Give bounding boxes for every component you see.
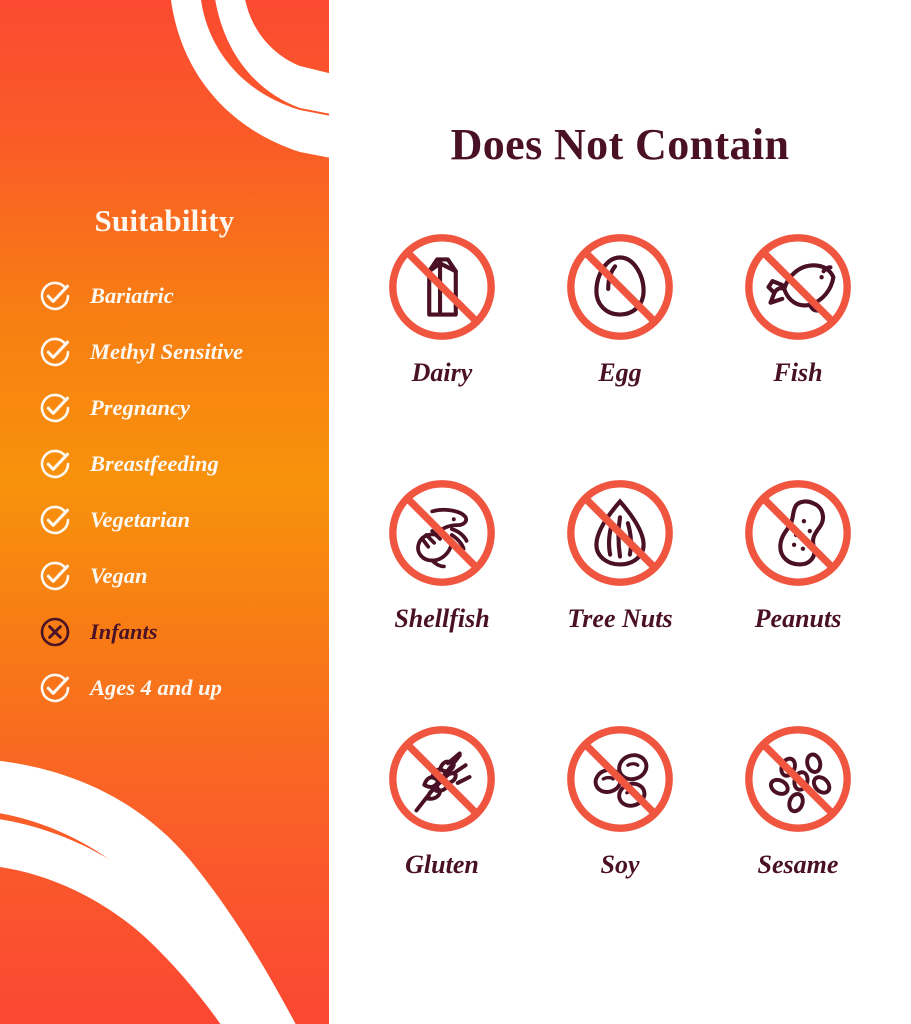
allergen-label: Gluten bbox=[405, 852, 479, 878]
suitability-item-label: Bariatric bbox=[90, 285, 174, 308]
check-circle-icon bbox=[38, 559, 72, 593]
allergen-item-fish: Fish bbox=[709, 228, 887, 474]
no-soybean-icon bbox=[561, 720, 679, 838]
allergen-label: Dairy bbox=[412, 360, 473, 386]
allergen-label: Sesame bbox=[758, 852, 839, 878]
suitability-item-vegan: Vegan bbox=[38, 548, 329, 604]
does-not-contain-panel: Does Not Contain Dairy bbox=[329, 0, 911, 1024]
allergen-item-gluten: Gluten bbox=[353, 720, 531, 966]
no-almond-icon bbox=[561, 474, 679, 592]
suitability-item-ages-4-and-up: Ages 4 and up bbox=[38, 660, 329, 716]
check-circle-icon bbox=[38, 671, 72, 705]
check-circle-icon bbox=[38, 279, 72, 313]
suitability-item-label: Methyl Sensitive bbox=[90, 341, 243, 364]
suitability-item-pregnancy: Pregnancy bbox=[38, 380, 329, 436]
allergen-item-peanuts: Peanuts bbox=[709, 474, 887, 720]
suitability-item-label: Vegetarian bbox=[90, 509, 190, 532]
no-sesame-seeds-icon bbox=[739, 720, 857, 838]
suitability-panel: Suitability Bariatric Methyl Sensitive bbox=[0, 0, 329, 1024]
suitability-item-label: Breastfeeding bbox=[90, 453, 219, 476]
check-circle-icon bbox=[38, 503, 72, 537]
suitability-item-vegetarian: Vegetarian bbox=[38, 492, 329, 548]
suitability-heading: Suitability bbox=[0, 203, 329, 239]
suitability-item-methyl-sensitive: Methyl Sensitive bbox=[38, 324, 329, 380]
no-milk-carton-icon bbox=[383, 228, 501, 346]
suitability-item-label: Infants bbox=[90, 621, 158, 644]
allergen-item-soy: Soy bbox=[531, 720, 709, 966]
allergen-item-dairy: Dairy bbox=[353, 228, 531, 474]
suitability-item-infants: Infants bbox=[38, 604, 329, 660]
allergen-label: Peanuts bbox=[755, 606, 842, 632]
no-shrimp-icon bbox=[383, 474, 501, 592]
suitability-item-breastfeeding: Breastfeeding bbox=[38, 436, 329, 492]
no-egg-icon bbox=[561, 228, 679, 346]
allergen-item-shellfish: Shellfish bbox=[353, 474, 531, 720]
x-circle-icon bbox=[38, 615, 72, 649]
no-wheat-icon bbox=[383, 720, 501, 838]
allergen-label: Egg bbox=[598, 360, 641, 386]
no-peanut-icon bbox=[739, 474, 857, 592]
allergen-label: Soy bbox=[601, 852, 640, 878]
suitability-item-label: Ages 4 and up bbox=[90, 677, 222, 700]
suitability-item-label: Pregnancy bbox=[90, 397, 190, 420]
suitability-list: Bariatric Methyl Sensitive Pregnancy bbox=[38, 268, 329, 716]
suitability-item-label: Vegan bbox=[90, 565, 148, 588]
infographic-page: Suitability Bariatric Methyl Sensitive bbox=[0, 0, 911, 1024]
check-circle-icon bbox=[38, 447, 72, 481]
check-circle-icon bbox=[38, 335, 72, 369]
does-not-contain-heading: Does Not Contain bbox=[329, 119, 911, 170]
suitability-item-bariatric: Bariatric bbox=[38, 268, 329, 324]
no-fish-icon bbox=[739, 228, 857, 346]
allergen-label: Shellfish bbox=[394, 606, 489, 632]
check-circle-icon bbox=[38, 391, 72, 425]
allergen-label: Fish bbox=[773, 360, 822, 386]
allergen-grid: Dairy Egg bbox=[353, 228, 887, 966]
allergen-item-sesame: Sesame bbox=[709, 720, 887, 966]
allergen-item-tree-nuts: Tree Nuts bbox=[531, 474, 709, 720]
allergen-label: Tree Nuts bbox=[567, 606, 672, 632]
allergen-item-egg: Egg bbox=[531, 228, 709, 474]
